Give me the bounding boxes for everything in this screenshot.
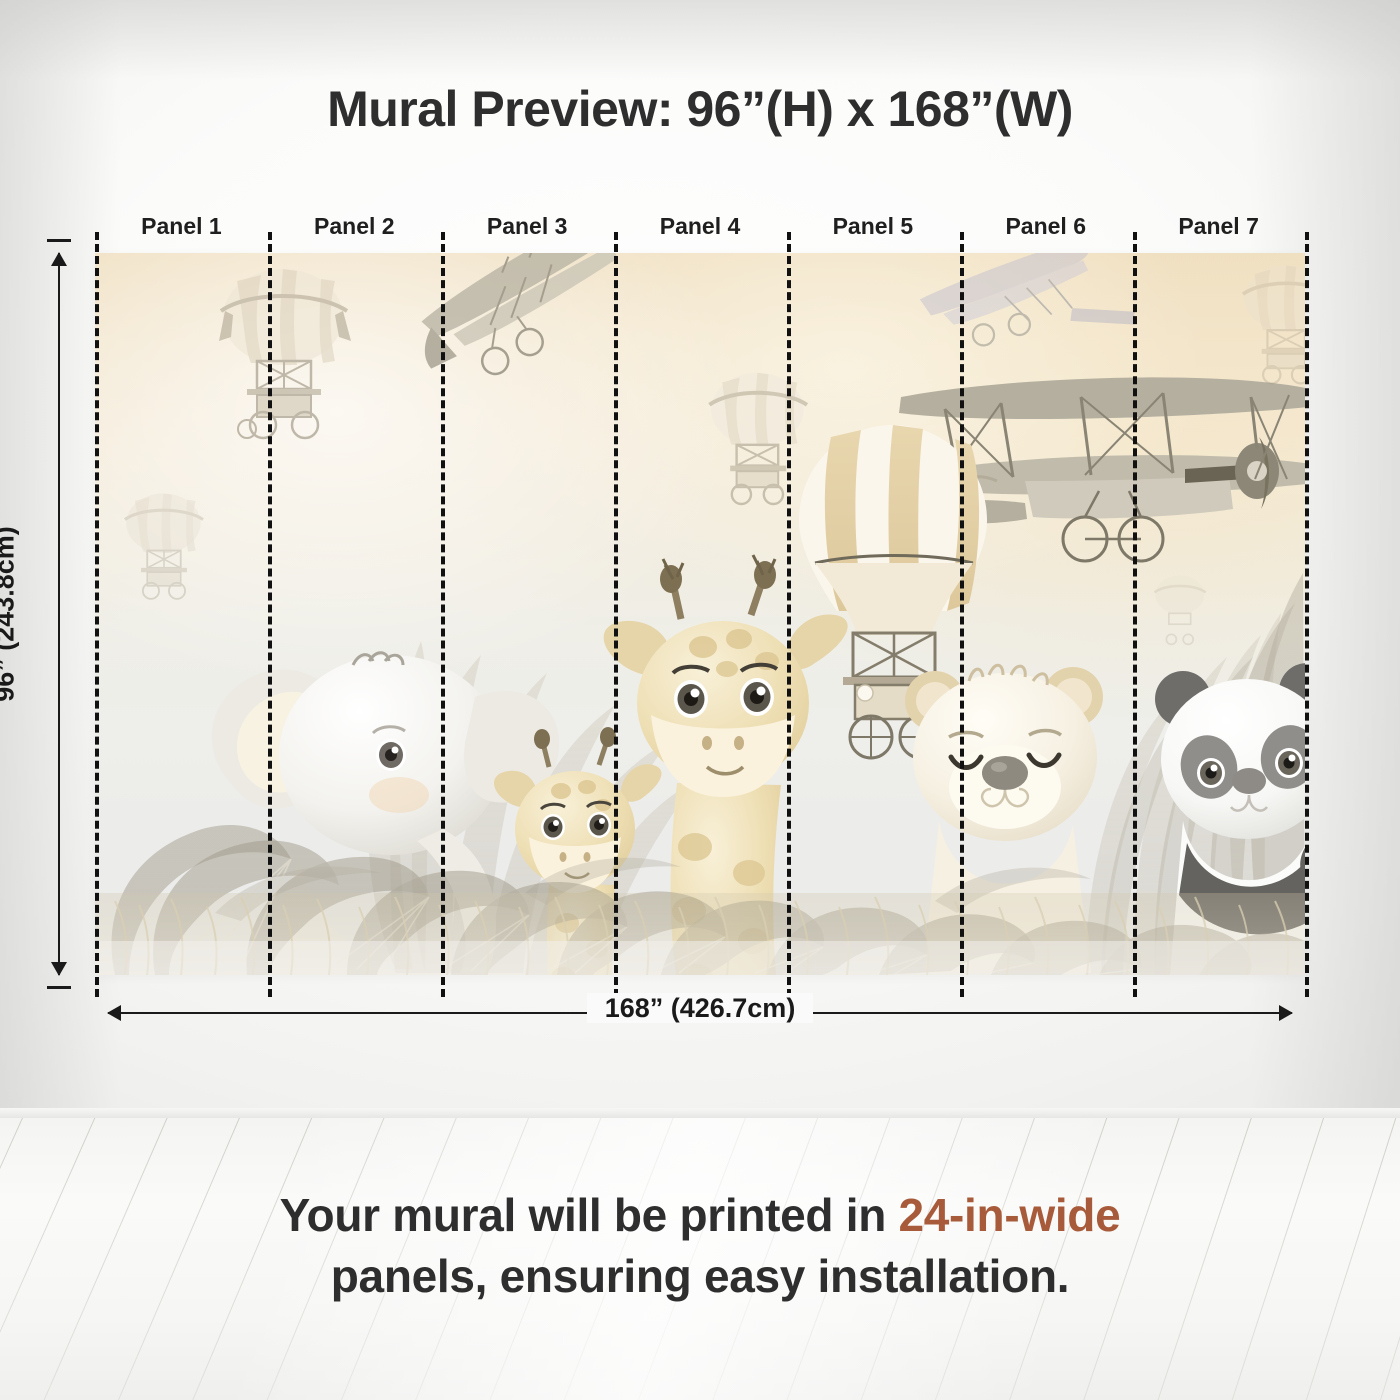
caption-line-1: Your mural will be printed in 24-in-wide	[0, 1185, 1400, 1246]
panel-label-3: Panel 3	[441, 213, 614, 245]
airship-balloon-3	[1243, 265, 1305, 383]
height-arrow-down-icon	[51, 962, 67, 976]
height-dimension-line	[58, 253, 60, 975]
panel-label-row: Panel 1 Panel 2 Panel 3 Panel 4 Panel 5 …	[95, 213, 1305, 245]
wall-shadow-top	[0, 0, 1400, 80]
panel-divider-3	[614, 232, 618, 997]
mural-edge-left	[95, 232, 99, 997]
caption-line-2: panels, ensuring easy installation.	[0, 1246, 1400, 1307]
hot-air-balloon-small	[709, 373, 807, 504]
page-title: Mural Preview: 96”(H) x 168”(W)	[0, 80, 1400, 138]
height-tick-bottom	[47, 986, 71, 989]
panel-divider-6	[1133, 232, 1137, 997]
monoplane-1: 158	[402, 253, 638, 390]
airship-balloon-4	[1155, 576, 1206, 645]
panel-label-5: Panel 5	[786, 213, 959, 245]
width-dimension-text: 168” (426.7cm)	[587, 993, 814, 1023]
height-tick-top	[47, 239, 71, 242]
monoplane-2	[914, 253, 1136, 353]
footer-caption: Your mural will be printed in 24-in-wide…	[0, 1185, 1400, 1307]
mural-artwork: 158	[95, 253, 1305, 975]
panel-divider-2	[441, 232, 445, 997]
caption-line-1-text: Your mural will be printed in	[280, 1189, 899, 1241]
panel-divider-4	[787, 232, 791, 997]
width-dimension-label: 168” (426.7cm)	[0, 993, 1400, 1024]
panel-label-2: Panel 2	[268, 213, 441, 245]
panel-label-1: Panel 1	[95, 213, 268, 245]
panel-label-4: Panel 4	[614, 213, 787, 245]
height-arrow-up-icon	[51, 252, 67, 266]
panel-divider-1	[268, 232, 272, 997]
mural-preview-page: Mural Preview: 96”(H) x 168”(W) Panel 1 …	[0, 0, 1400, 1400]
caption-accent-text: 24-in-wide	[898, 1189, 1120, 1241]
airship-balloon-2	[125, 493, 203, 598]
panel-label-7: Panel 7	[1132, 213, 1305, 245]
panel-divider-5	[960, 232, 964, 997]
height-dimension-label: 96” (243.8cm)	[0, 526, 20, 702]
mural-edge-right	[1305, 232, 1309, 997]
airship-balloon-1	[219, 269, 351, 438]
panel-label-6: Panel 6	[959, 213, 1132, 245]
